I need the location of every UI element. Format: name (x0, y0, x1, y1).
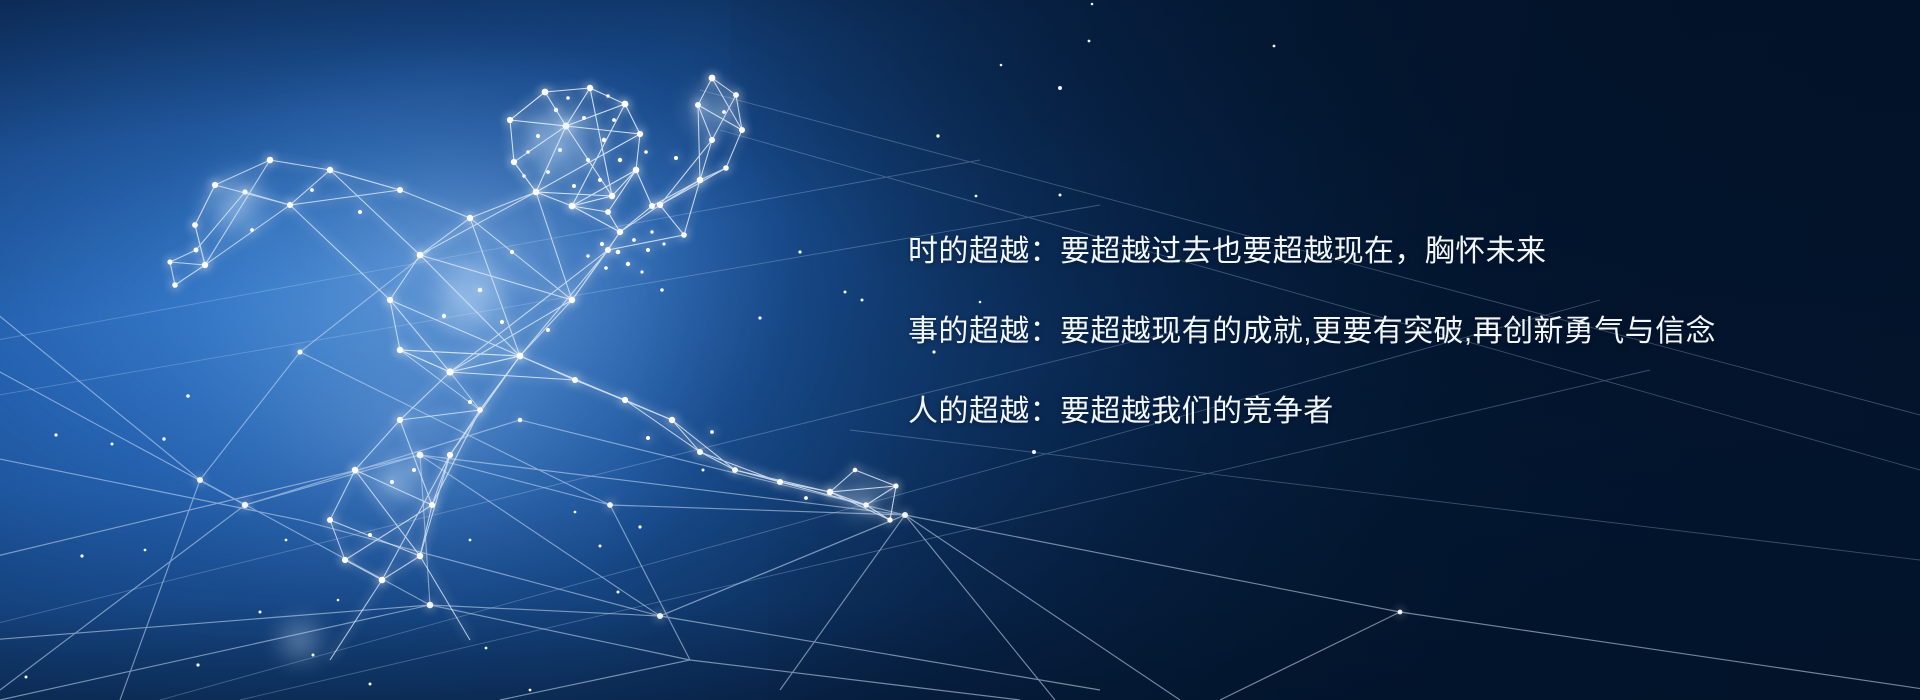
hero-banner: 时的超越：要超越过去也要超越现在，胸怀未来 事的超越：要超越现有的成就,更要有突… (0, 0, 1920, 700)
figure-halo-lower (120, 230, 720, 630)
slogan-block: 时的超越：要超越过去也要超越现在，胸怀未来 事的超越：要超越现有的成就,更要有突… (908, 232, 1728, 432)
slogan-line-time: 时的超越：要超越过去也要超越现在，胸怀未来 (908, 232, 1728, 272)
slogan-line-people: 人的超越：要超越我们的竞争者 (908, 392, 1728, 432)
slogan-line-matter: 事的超越：要超越现有的成就,更要有突破,再创新勇气与信念 (908, 312, 1728, 352)
